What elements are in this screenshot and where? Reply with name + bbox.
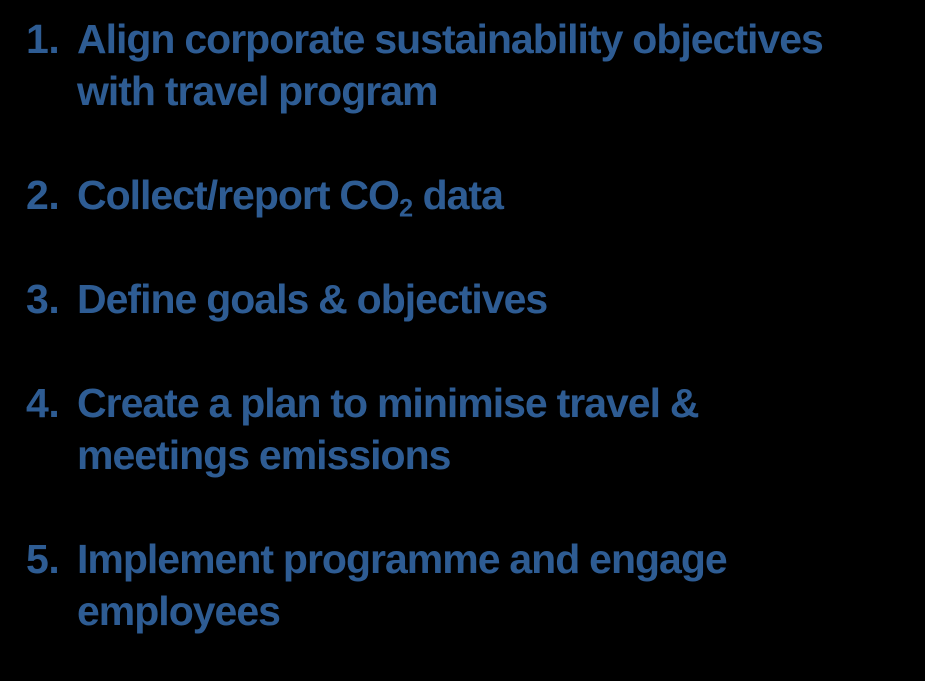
list-item-text: Define goals & objectives [77,273,925,325]
list-item-text: Create a plan to minimise travel & meeti… [77,377,925,481]
list-item-number: 2. [0,169,77,221]
list-item: 1. Align corporate sustainability object… [0,13,925,117]
list-item-number: 5. [0,533,77,585]
list-item-number: 1. [0,13,77,65]
list-item-text-part: Collect/report CO [77,172,399,218]
list-item-text: Implement programme and engage employees [77,533,925,637]
list-item: 4. Create a plan to minimise travel & me… [0,377,925,481]
list-item: 3. Define goals & objectives [0,273,925,325]
list-item-text-part: Align corporate sustainability objective… [77,16,823,114]
list-item-text: Align corporate sustainability objective… [77,13,925,117]
list-item-text-part: data [413,172,503,218]
list-item: 2. Collect/report CO2 data [0,169,925,221]
subscript-two: 2 [399,195,413,223]
list-item-number: 4. [0,377,77,429]
list-item-text: Collect/report CO2 data [77,169,925,221]
list-item: 5. Implement programme and engage employ… [0,533,925,637]
list-item-text-part: Create a plan to minimise travel & meeti… [77,380,699,478]
slide-canvas: 1. Align corporate sustainability object… [0,0,925,681]
list-item-number: 3. [0,273,77,325]
list-item-text-part: Implement programme and engage employees [77,536,727,634]
list-item-text-part: Define goals & objectives [77,276,547,322]
numbered-list: 1. Align corporate sustainability object… [0,0,925,637]
